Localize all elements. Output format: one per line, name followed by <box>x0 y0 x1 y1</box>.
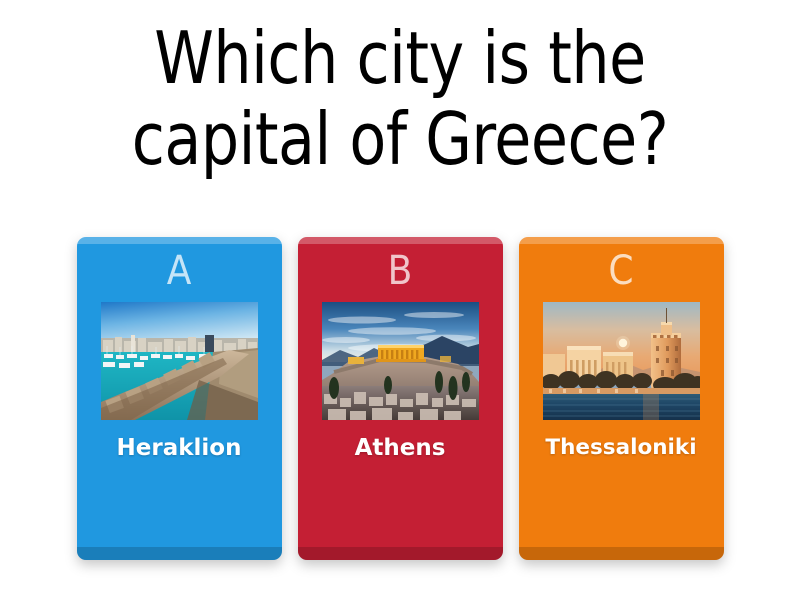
thessaloniki-white-tower-photo <box>543 302 700 420</box>
answer-label-b: Athens <box>351 436 450 461</box>
athens-acropolis-photo <box>322 302 479 420</box>
question-text: Which city is the capital of Greece? <box>47 18 754 179</box>
quiz-slide: Which city is the capital of Greece? A <box>0 0 800 600</box>
answer-letter-b: B <box>388 251 413 291</box>
answer-letter-a: A <box>167 251 192 291</box>
answer-option-a[interactable]: A <box>77 237 282 560</box>
answer-label-a: Heraklion <box>113 436 246 461</box>
answer-options-row: A <box>0 237 800 567</box>
answer-option-b[interactable]: B <box>298 237 503 560</box>
answer-label-c: Thessaloniki <box>541 436 700 460</box>
answer-option-c[interactable]: C <box>519 237 724 560</box>
answer-letter-c: C <box>608 251 633 291</box>
heraklion-harbor-fortress-photo <box>101 302 258 420</box>
